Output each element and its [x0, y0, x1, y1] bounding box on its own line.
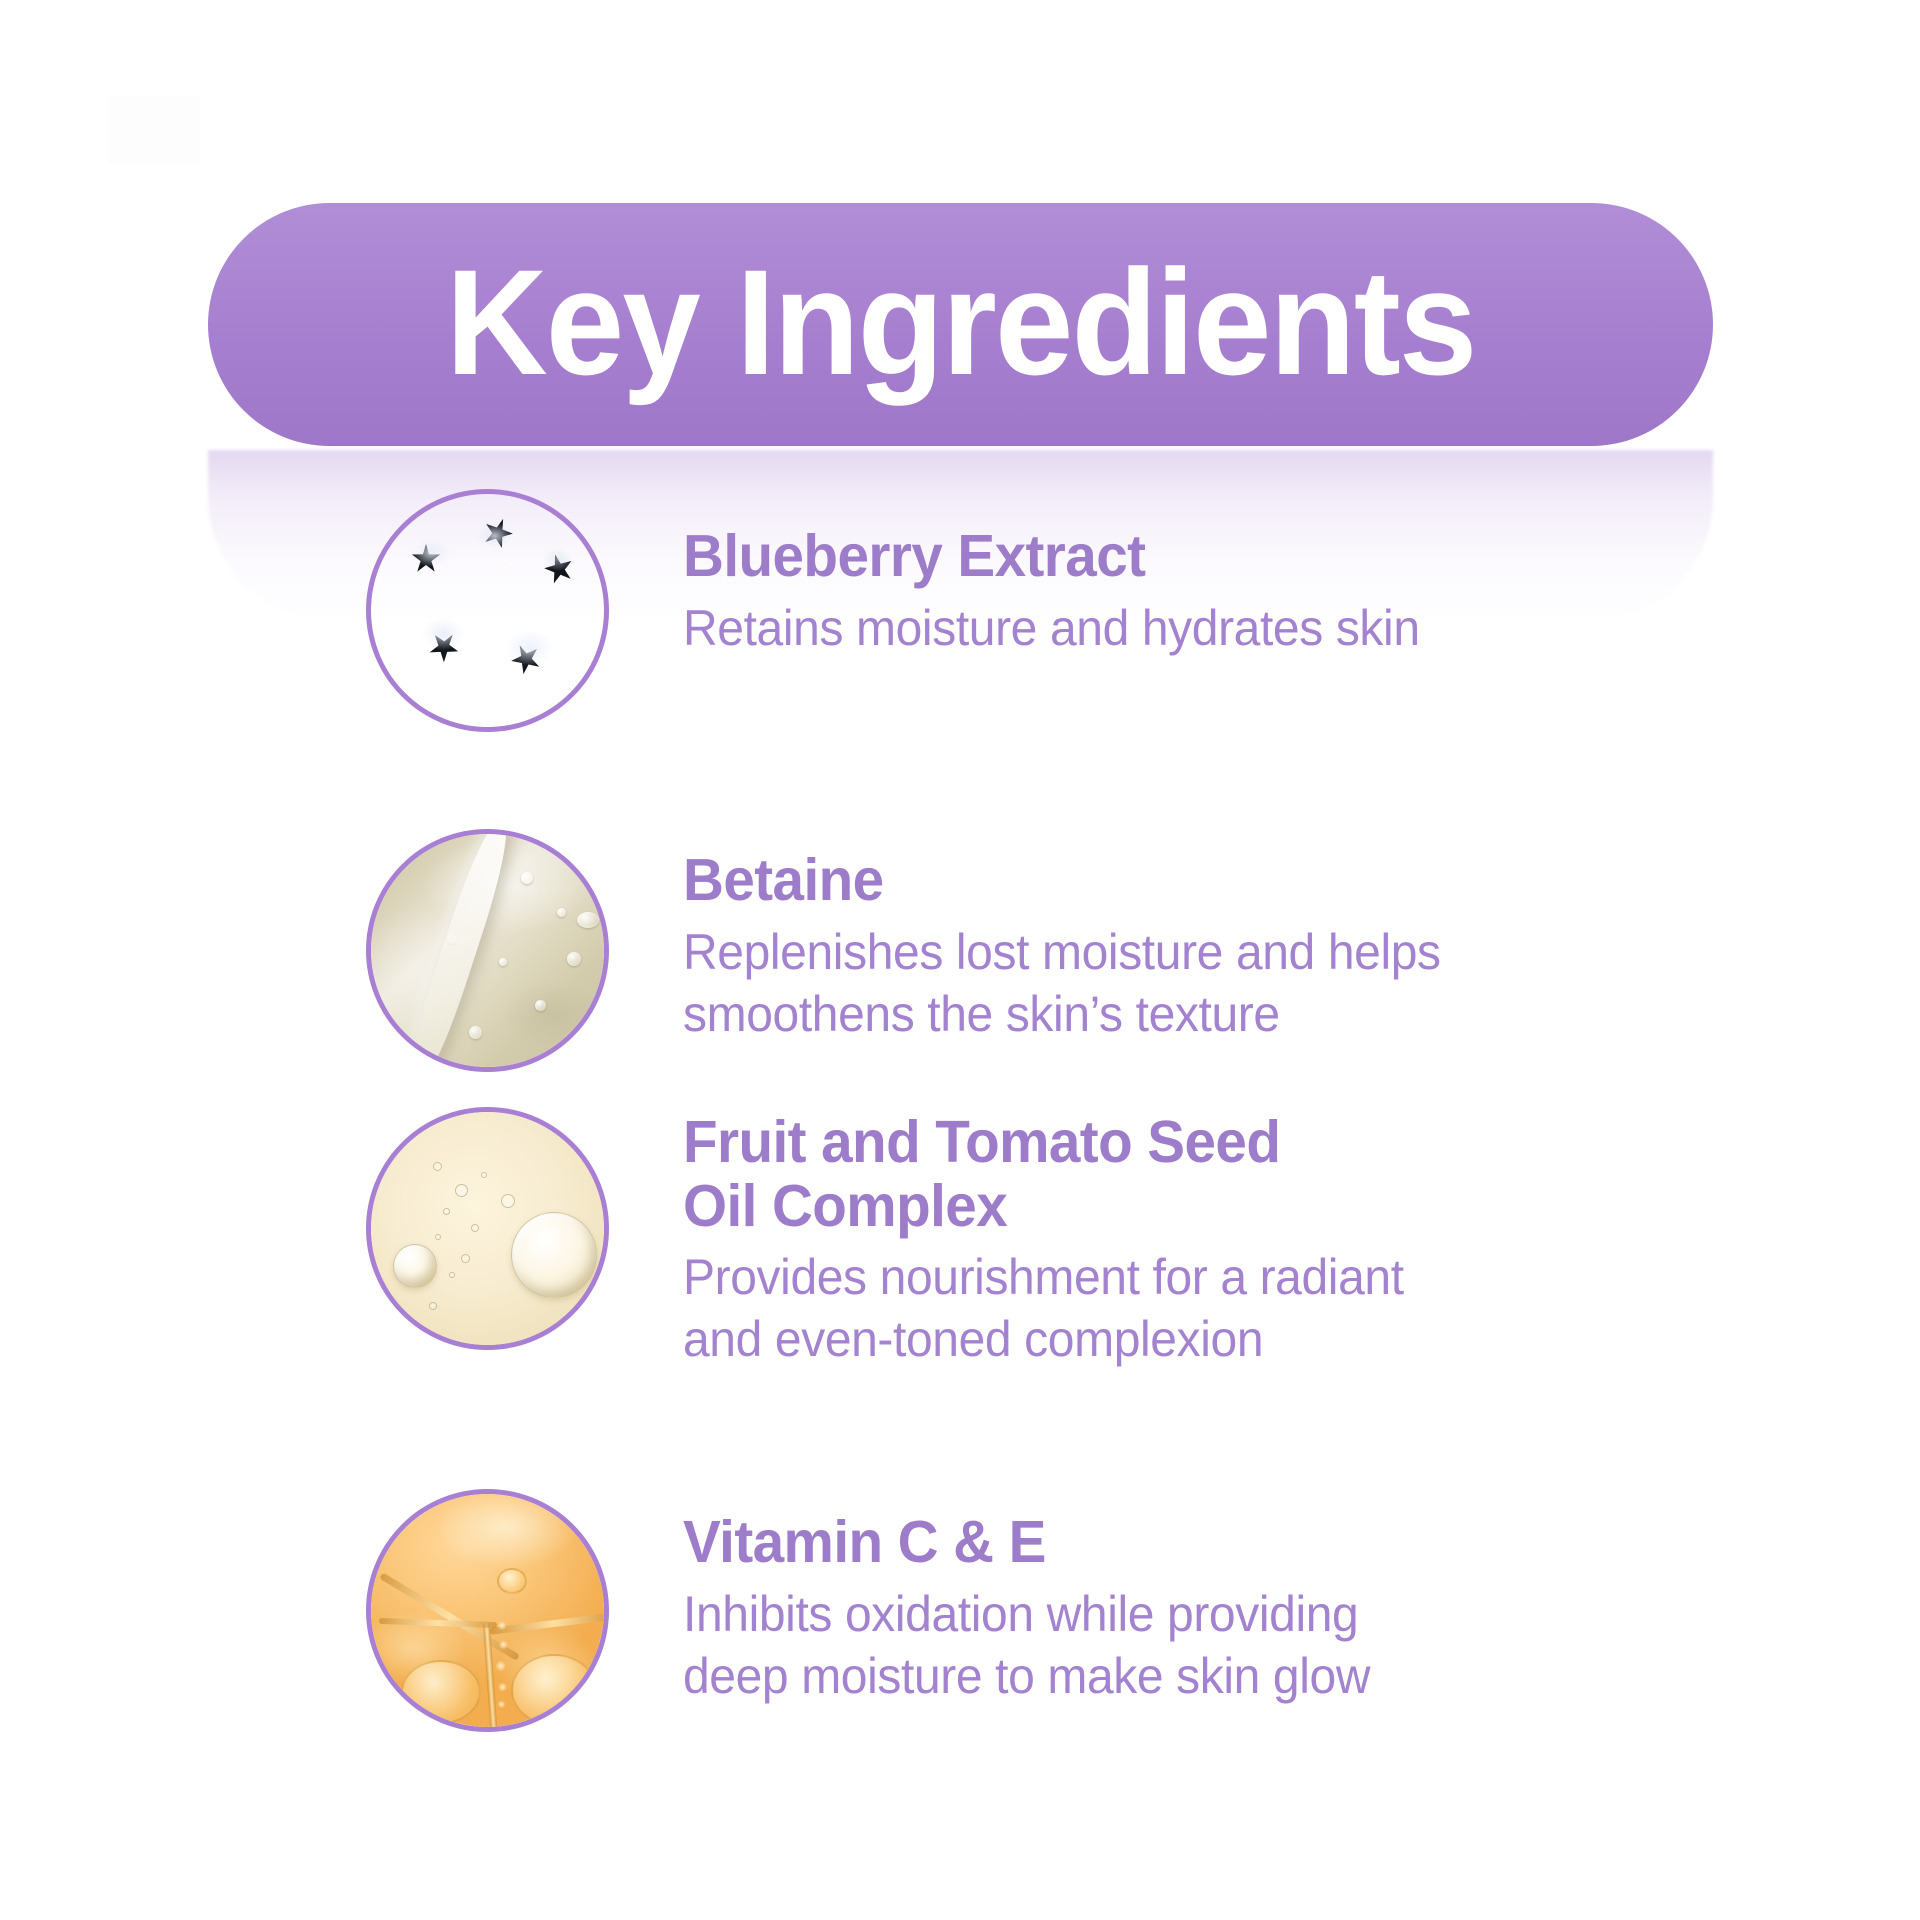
gel-cell-icon [497, 1568, 527, 1594]
list-item: Fruit and Tomato Seed Oil Complex Provid… [0, 1107, 1920, 1370]
corner-artifact [108, 95, 200, 163]
ingredient-description: Retains moisture and hydrates skin [683, 597, 1420, 659]
ingredient-description: Replenishes lost moisture and helps smoo… [683, 921, 1441, 1045]
bubble-icon [535, 1000, 546, 1011]
bubble-icon [501, 1194, 515, 1208]
ingredient-text: Blueberry Extract Retains moisture and h… [683, 489, 1450, 659]
droplet-icon [511, 1212, 597, 1298]
blueberry-crown-icon [479, 514, 517, 552]
bubble-icon [449, 1272, 455, 1278]
ingredient-description: Inhibits oxidation while providing deep … [683, 1583, 1370, 1707]
bubble-chain-icon [489, 1616, 515, 1712]
ingredient-title: Vitamin C & E [683, 1511, 1370, 1575]
oil-art [371, 1112, 604, 1345]
blueberry-art [371, 494, 604, 727]
blueberry-crown-icon [541, 551, 578, 588]
key-ingredients-banner: Key Ingredients [208, 203, 1713, 446]
blueberry-crown-icon [411, 544, 441, 574]
bubble-icon [469, 1026, 482, 1039]
ingredient-text: Vitamin C & E Inhibits oxidation while p… [683, 1489, 1399, 1707]
bubble-icon [577, 912, 599, 928]
ingredient-title: Blueberry Extract [683, 525, 1420, 589]
list-item: Vitamin C & E Inhibits oxidation while p… [0, 1489, 1920, 1732]
vitamin-art [371, 1494, 604, 1727]
list-item: Betaine Replenishes lost moisture and he… [0, 829, 1920, 1072]
bubble-icon [499, 958, 507, 966]
ingredient-text: Betaine Replenishes lost moisture and he… [683, 829, 1472, 1045]
oil-droplets-icon [366, 1107, 609, 1350]
gel-ridge-icon [379, 1618, 497, 1628]
ingredient-title: Fruit and Tomato Seed Oil Complex [683, 1111, 1404, 1238]
bubble-icon [447, 934, 457, 944]
banner-pill: Key Ingredients [208, 203, 1713, 446]
betaine-art [371, 834, 604, 1067]
bubble-icon [557, 908, 566, 917]
blueberry-crown-icon [423, 626, 465, 668]
bubble-icon [481, 1172, 487, 1178]
blueberry-crown-icon [506, 639, 546, 679]
bubble-icon [461, 1254, 470, 1263]
bubble-icon [567, 952, 581, 966]
gel-cell-icon [401, 1660, 481, 1724]
bubble-icon [435, 1234, 441, 1240]
bubble-icon [443, 1208, 450, 1215]
orange-serum-icon [366, 1489, 609, 1732]
bubble-icon [455, 1184, 468, 1197]
cream-gel-texture-icon [366, 829, 609, 1072]
gel-cell-icon [511, 1654, 597, 1726]
ingredient-text: Fruit and Tomato Seed Oil Complex Provid… [683, 1107, 1434, 1370]
list-item: Blueberry Extract Retains moisture and h… [0, 489, 1920, 732]
bubble-icon [521, 872, 533, 884]
bubble-icon [471, 1224, 479, 1232]
ingredient-description: Provides nourishment for a radiant and e… [683, 1246, 1404, 1370]
bubble-icon [429, 1302, 437, 1310]
droplet-icon [393, 1244, 437, 1288]
bubble-icon [433, 1162, 442, 1171]
page-title: Key Ingredients [446, 247, 1476, 397]
blueberries-photo-icon [366, 489, 609, 732]
ingredient-title: Betaine [683, 849, 1441, 913]
